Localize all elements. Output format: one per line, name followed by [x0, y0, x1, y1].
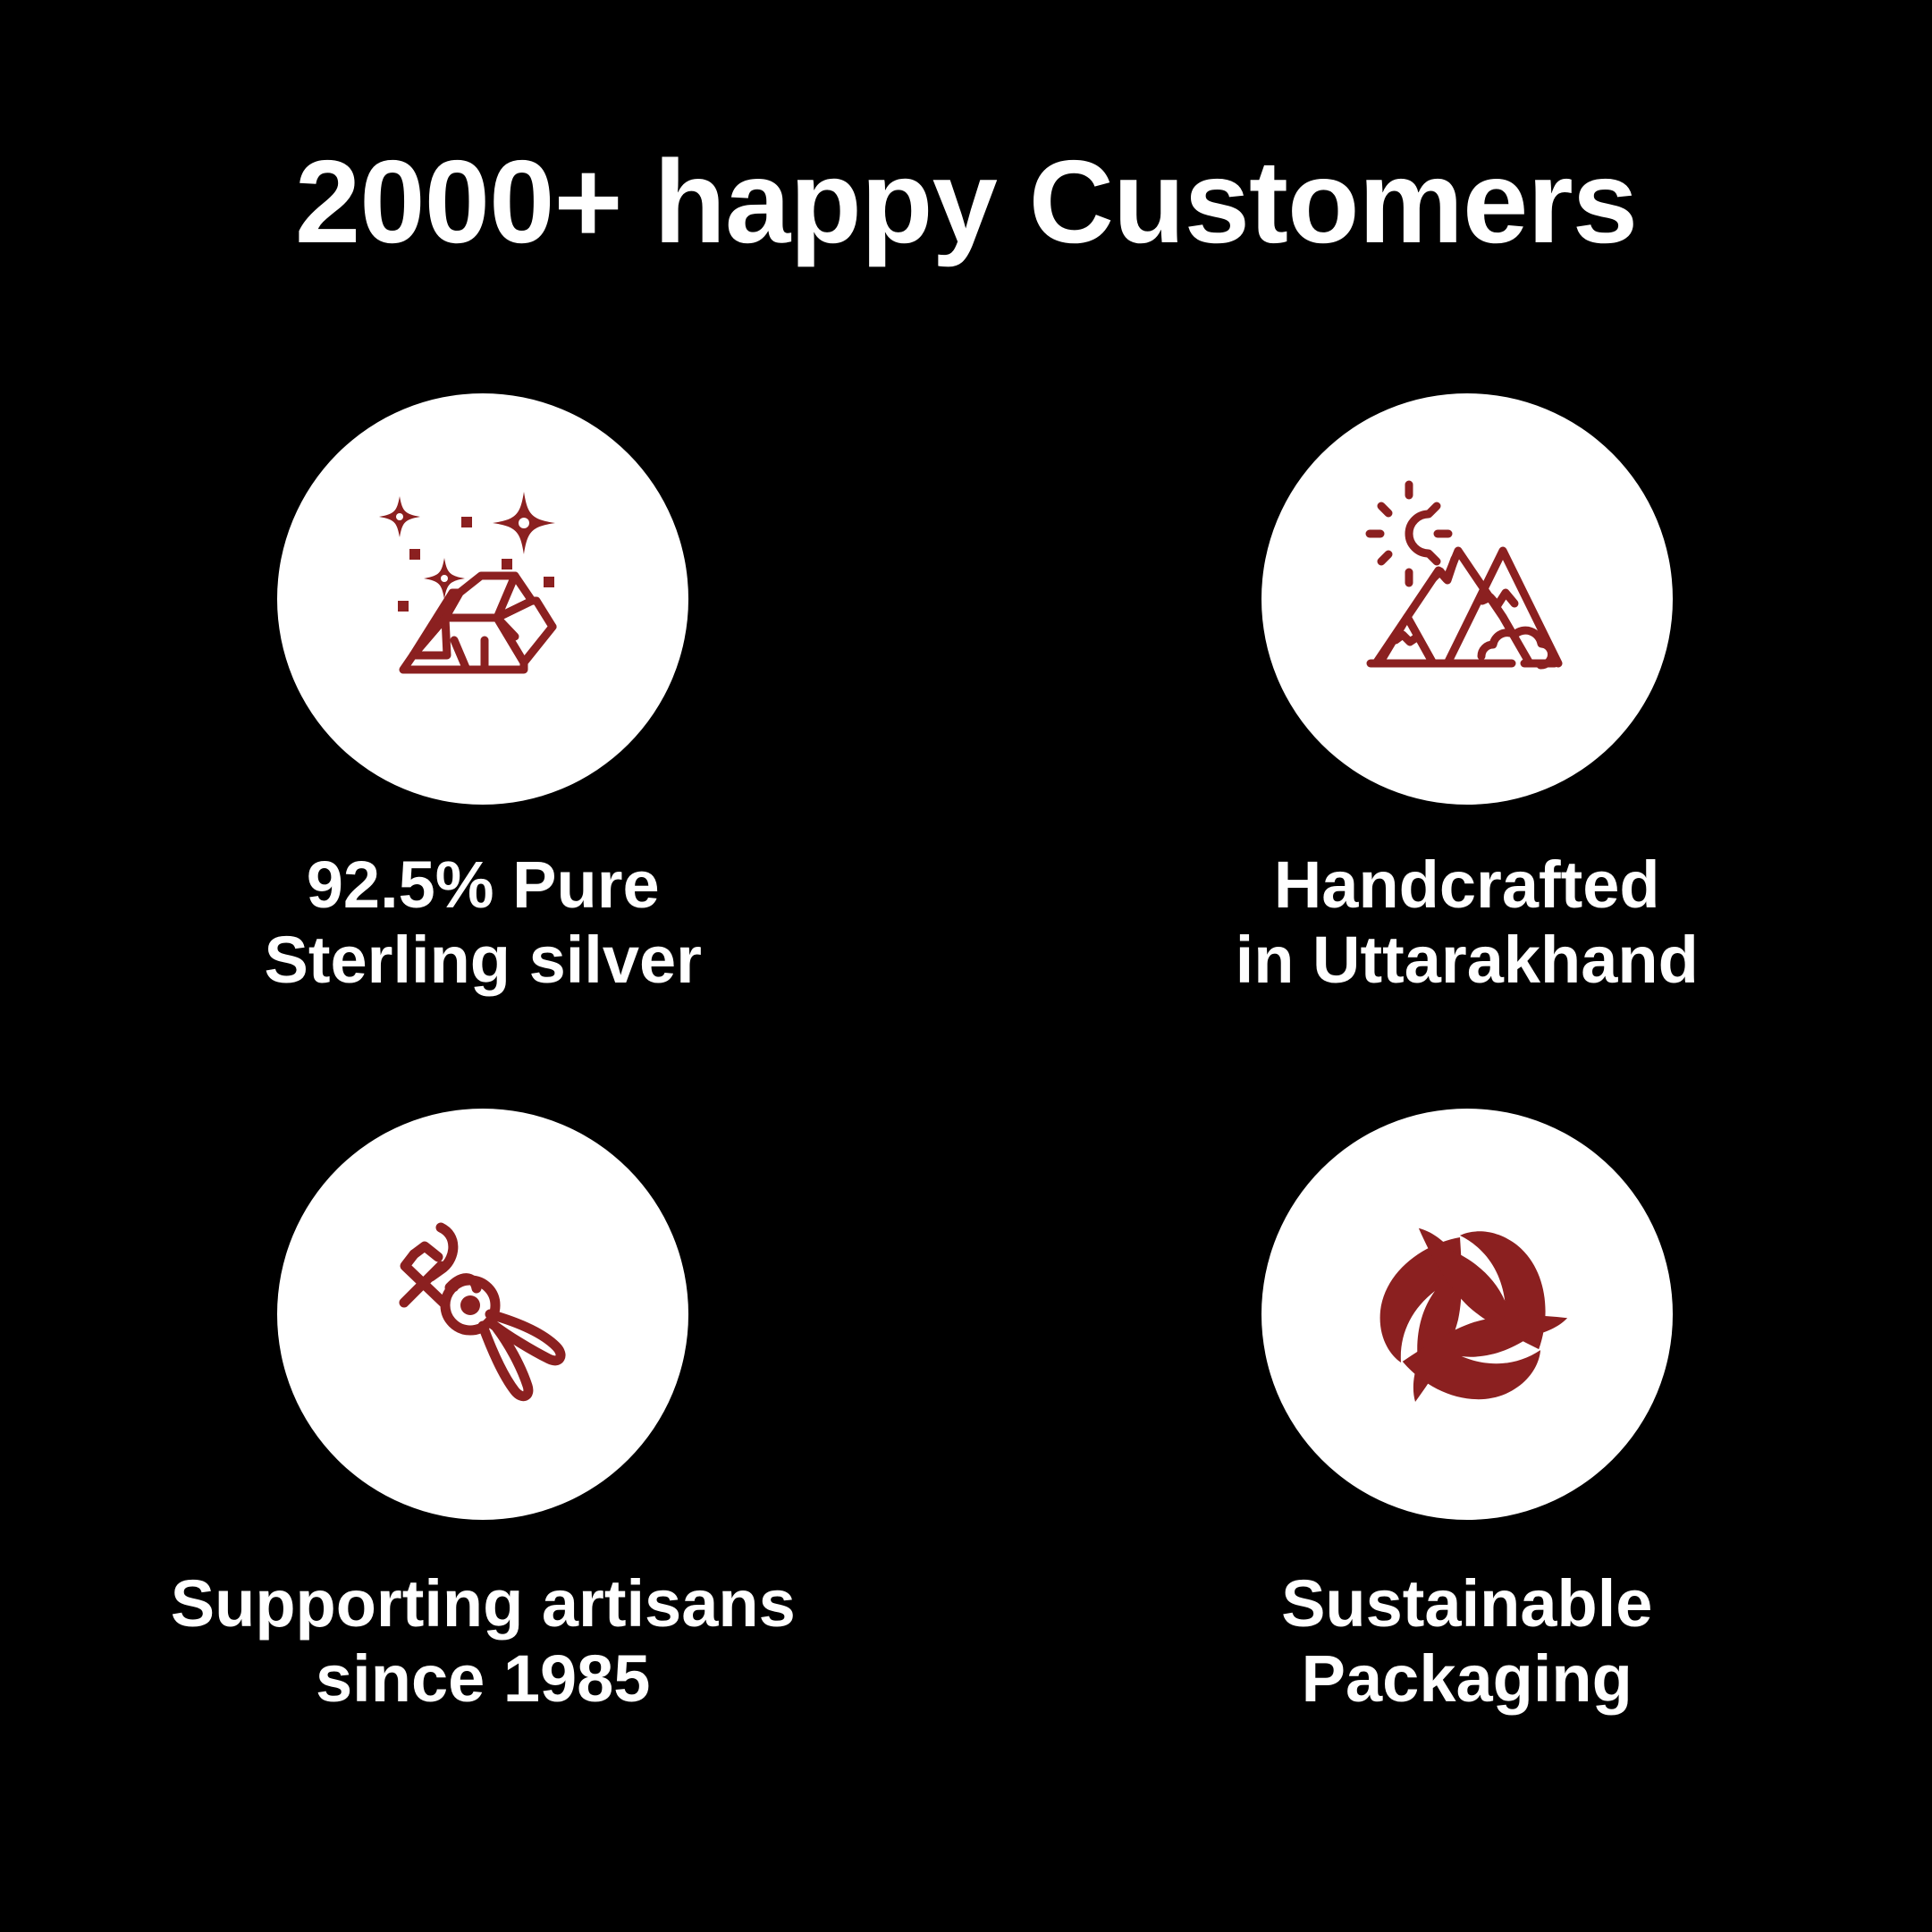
three-leaves-recycle-icon: [1333, 1180, 1601, 1448]
jewelers-pliers-icon: [349, 1180, 617, 1448]
feature-item-sterling-silver: 92.5% Pure Sterling silver: [0, 393, 966, 1109]
feature-label: Handcrafted in Uttarakhand: [1236, 848, 1699, 997]
icon-badge: [277, 1109, 688, 1520]
feature-label: Sustainable Packaging: [1281, 1566, 1652, 1716]
icon-badge: [1261, 393, 1673, 805]
feature-label: Supporting artisans since 1985: [171, 1566, 796, 1716]
feature-item-handcrafted: Handcrafted in Uttarakhand: [966, 393, 1932, 1109]
icon-badge: [1261, 1109, 1673, 1520]
feature-grid: 92.5% Pure Sterling silver: [0, 393, 1932, 1824]
feature-label: 92.5% Pure Sterling silver: [265, 848, 702, 997]
feature-item-sustainable-packaging: Sustainable Packaging: [966, 1109, 1932, 1824]
feature-item-supporting-artisans: Supporting artisans since 1985: [0, 1109, 966, 1824]
silver-bars-sparkle-icon: [349, 465, 617, 733]
mountains-sun-icon: [1333, 465, 1601, 733]
page-title: 2000+ happy Customers: [0, 134, 1932, 270]
promo-banner: 2000+ happy Customers: [0, 0, 1932, 1932]
icon-badge: [277, 393, 688, 805]
